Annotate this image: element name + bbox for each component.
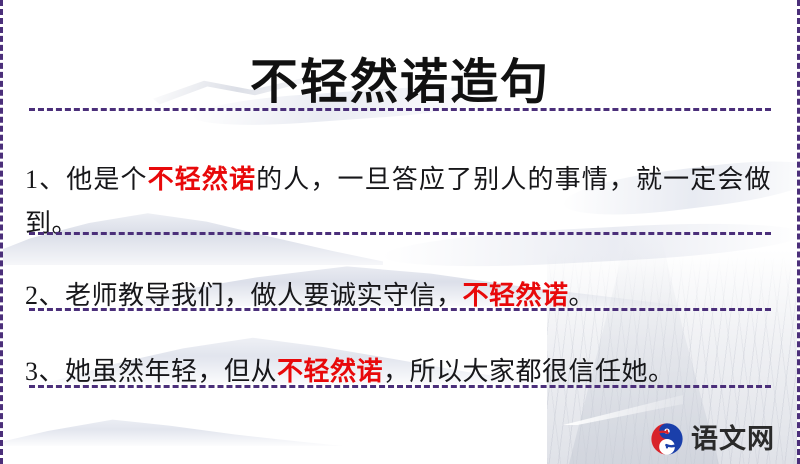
sentence-3-keyword: 不轻然诺 (277, 357, 383, 386)
sentence-3-text-before: 她虽然年轻，但从 (65, 357, 277, 386)
example-sentence-2: 2、老师教导我们，做人要诚实守信，不轻然诺。 (25, 274, 771, 318)
poster-content: 不轻然诺造句 1、他是个不轻然诺的人，一旦答应了别人的事情，就一定会做到。 2、… (3, 0, 797, 464)
yinyang-circle-icon (650, 422, 684, 456)
divider-line-3 (29, 308, 771, 311)
sentence-1-text-before: 他是个 (66, 165, 147, 194)
sentence-3-text-after: ，所以大家都很信任她。 (383, 357, 675, 386)
sentence-2-text-after: 。 (569, 281, 596, 310)
sentence-3-index: 3、 (25, 357, 65, 386)
site-logo-text: 语文网 (691, 426, 775, 453)
sentence-2-keyword: 不轻然诺 (463, 281, 569, 310)
poster-page: 不轻然诺造句 1、他是个不轻然诺的人，一旦答应了别人的事情，就一定会做到。 2、… (0, 0, 800, 464)
sentence-1-keyword: 不轻然诺 (148, 165, 257, 194)
divider-line-2 (29, 232, 771, 235)
page-title: 不轻然诺造句 (3, 55, 797, 110)
sentence-2-index: 2、 (25, 281, 65, 310)
divider-line-4 (29, 385, 771, 388)
site-logo[interactable]: 语文网 (650, 422, 775, 456)
sentence-1-index: 1、 (25, 165, 66, 194)
sentence-2-text-before: 老师教导我们，做人要诚实守信， (65, 281, 463, 310)
divider-line-1 (29, 108, 771, 111)
